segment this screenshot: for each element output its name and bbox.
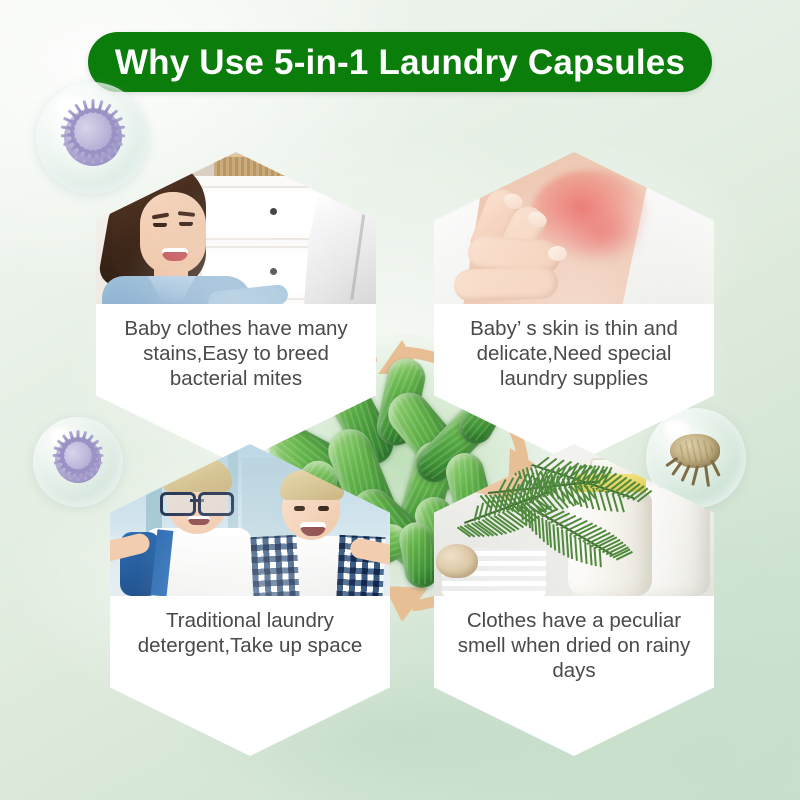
- card-caption-text: Clothes have a peculiar smell when dried…: [434, 608, 714, 683]
- card-caption-text: Baby’ s skin is thin and delicate,Need s…: [434, 316, 714, 391]
- virus-bubble-mid-left: [33, 417, 123, 507]
- virus-bubble-top-left: [36, 82, 148, 194]
- dust-mite-icon: [666, 432, 726, 478]
- title-banner: Why Use 5-in-1 Laundry Capsules: [88, 32, 712, 92]
- card-caption-text: Baby clothes have many stains,Easy to br…: [96, 316, 376, 391]
- virus-icon: [64, 108, 122, 166]
- card-caption-text: Traditional laundry detergent,Take up sp…: [110, 608, 390, 658]
- page-title: Why Use 5-in-1 Laundry Capsules: [115, 45, 685, 80]
- virus-icon: [55, 437, 101, 483]
